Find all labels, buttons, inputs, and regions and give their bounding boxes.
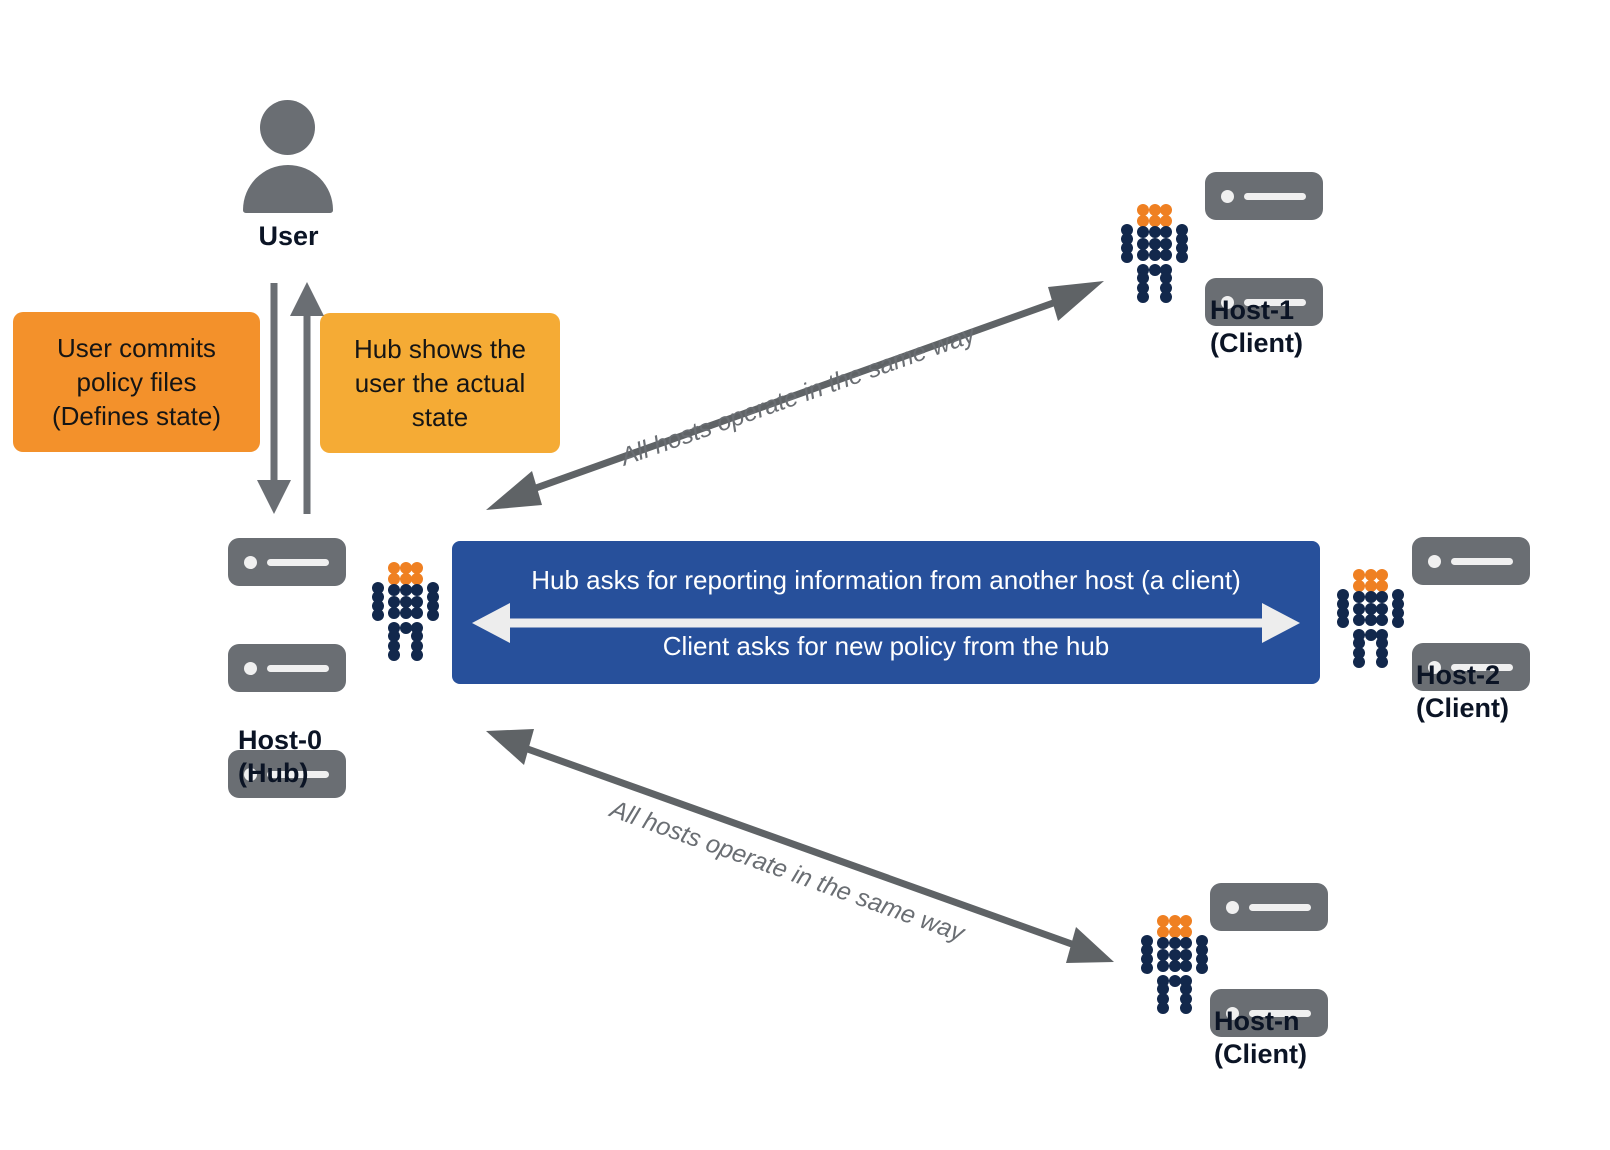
robot-dot (1160, 238, 1172, 250)
user-head-icon (260, 100, 315, 155)
user-body-icon (243, 165, 333, 213)
ansible-robot-icon (1120, 204, 1186, 314)
robot-dot (411, 607, 423, 619)
diagram-canvas: User User commits policy files (Defines … (0, 0, 1610, 1150)
server-bar-icon (1249, 904, 1311, 911)
robot-dot (1169, 960, 1181, 972)
robot-dot (1376, 614, 1388, 626)
robot-dot (1137, 204, 1149, 216)
host-n-label: Host-n (Client) (1214, 1005, 1414, 1071)
robot-dot (1365, 603, 1377, 615)
callout-line: User commits (52, 331, 221, 365)
node-host-1: Host-1 (Client) (1120, 172, 1350, 362)
robot-dot (411, 562, 423, 574)
server-unit (1210, 883, 1328, 931)
node-host-0: Host-0 (Hub) (228, 538, 428, 788)
robot-dot (1160, 226, 1172, 238)
robot-dot (411, 649, 423, 661)
robot-dot (1157, 926, 1169, 938)
callout-user-commits-text: User commits policy files (Defines state… (52, 331, 221, 434)
robot-dot (1149, 249, 1161, 261)
robot-dot (400, 622, 412, 634)
robot-dot (388, 607, 400, 619)
robot-dot (1353, 603, 1365, 615)
host-1-label: Host-1 (Client) (1210, 294, 1410, 360)
robot-dot (400, 596, 412, 608)
robot-dot (1160, 215, 1172, 227)
robot-dot (1365, 614, 1377, 626)
robot-dot (1169, 937, 1181, 949)
arrow-hub-to-user (290, 282, 324, 514)
robot-dot (427, 609, 439, 621)
robot-dot (1180, 937, 1192, 949)
robot-dot (400, 607, 412, 619)
server-bar-icon (1244, 193, 1306, 200)
robot-dot (400, 584, 412, 596)
robot-dot (388, 573, 400, 585)
robot-dot (1353, 569, 1365, 581)
robot-dot (1180, 926, 1192, 938)
host-2-label-line1: Host-2 (1416, 659, 1610, 692)
robot-dot (1180, 960, 1192, 972)
robot-dot (1376, 569, 1388, 581)
robot-dot (388, 562, 400, 574)
server-led-icon (244, 556, 257, 569)
robot-dot (1149, 215, 1161, 227)
ansible-robot-icon (371, 562, 437, 672)
robot-dot (1169, 949, 1181, 961)
robot-dot (1376, 580, 1388, 592)
server-led-icon (1221, 190, 1234, 203)
robot-dot (1353, 656, 1365, 668)
host-n-label-line1: Host-n (1214, 1005, 1414, 1038)
vertical-arrows-group (250, 270, 340, 530)
robot-dot (1149, 226, 1161, 238)
robot-dot (411, 596, 423, 608)
host-0-label-line1: Host-0 (238, 724, 428, 757)
robot-dot (388, 596, 400, 608)
ansible-robot-icon (1140, 915, 1206, 1025)
robot-dot (1160, 249, 1172, 261)
node-user: User (236, 100, 336, 260)
host-n-label-line2: (Client) (1214, 1038, 1414, 1071)
host-1-label-line1: Host-1 (1210, 294, 1410, 327)
robot-dot (1376, 603, 1388, 615)
callout-user-commits: User commits policy files (Defines state… (13, 312, 260, 452)
robot-dot (1149, 264, 1161, 276)
arrow-hub-hostn (470, 715, 1130, 985)
exchange-top-text: Hub asks for reporting information from … (452, 565, 1320, 596)
host-1-label-line2: (Client) (1210, 327, 1410, 360)
robot-dot (1180, 949, 1192, 961)
server-unit (228, 644, 346, 692)
robot-dot (1337, 616, 1349, 628)
robot-dot (388, 649, 400, 661)
host-0-label: Host-0 (Hub) (238, 724, 428, 790)
robot-dot (1365, 629, 1377, 641)
server-led-icon (1226, 901, 1239, 914)
robot-dot (411, 573, 423, 585)
robot-dot (1157, 960, 1169, 972)
robot-dot (1365, 580, 1377, 592)
robot-dot (1157, 937, 1169, 949)
robot-dot (1169, 926, 1181, 938)
user-label: User (216, 220, 361, 253)
robot-dot (1353, 580, 1365, 592)
robot-dot (1160, 204, 1172, 216)
robot-dot (1176, 251, 1188, 263)
robot-dot (1157, 915, 1169, 927)
robot-dot (1157, 949, 1169, 961)
server-bar-icon (267, 665, 329, 672)
robot-dot (1141, 962, 1153, 974)
robot-dot (1121, 251, 1133, 263)
server-unit (228, 538, 346, 586)
callout-line: (Defines state) (52, 399, 221, 433)
host-2-label-line2: (Client) (1416, 692, 1610, 725)
robot-dot (400, 562, 412, 574)
robot-dot (372, 609, 384, 621)
arrow-user-to-hub (257, 283, 291, 514)
robot-dot (411, 584, 423, 596)
robot-dot (1365, 569, 1377, 581)
exchange-box: Hub asks for reporting information from … (452, 541, 1320, 684)
server-bar-icon (1451, 558, 1513, 565)
robot-dot (1180, 1002, 1192, 1014)
robot-dot (1137, 226, 1149, 238)
robot-dot (1160, 291, 1172, 303)
robot-dot (1169, 915, 1181, 927)
ansible-robot-icon (1336, 569, 1402, 679)
robot-dot (1149, 238, 1161, 250)
server-bar-icon (267, 559, 329, 566)
robot-dot (1137, 291, 1149, 303)
server-unit (1205, 172, 1323, 220)
robot-dot (1353, 591, 1365, 603)
robot-dot (1169, 975, 1181, 987)
host-2-label: Host-2 (Client) (1416, 659, 1610, 725)
robot-dot (1137, 215, 1149, 227)
robot-dot (1365, 591, 1377, 603)
host-0-label-line2: (Hub) (238, 757, 428, 790)
server-unit (1412, 537, 1530, 585)
robot-dot (1137, 238, 1149, 250)
robot-dot (1353, 614, 1365, 626)
robot-dot (400, 573, 412, 585)
robot-dot (1376, 656, 1388, 668)
robot-dot (1137, 249, 1149, 261)
callout-line: policy files (52, 365, 221, 399)
server-led-icon (244, 662, 257, 675)
robot-dot (388, 584, 400, 596)
robot-dot (1392, 616, 1404, 628)
robot-dot (1196, 962, 1208, 974)
server-led-icon (1428, 555, 1441, 568)
node-host-n: Host-n (Client) (1122, 883, 1362, 1073)
node-host-2: Host-2 (Client) (1336, 537, 1576, 727)
robot-dot (1157, 1002, 1169, 1014)
robot-dot (1149, 204, 1161, 216)
robot-dot (1376, 591, 1388, 603)
exchange-bottom-text: Client asks for new policy from the hub (452, 631, 1320, 662)
robot-dot (1180, 915, 1192, 927)
